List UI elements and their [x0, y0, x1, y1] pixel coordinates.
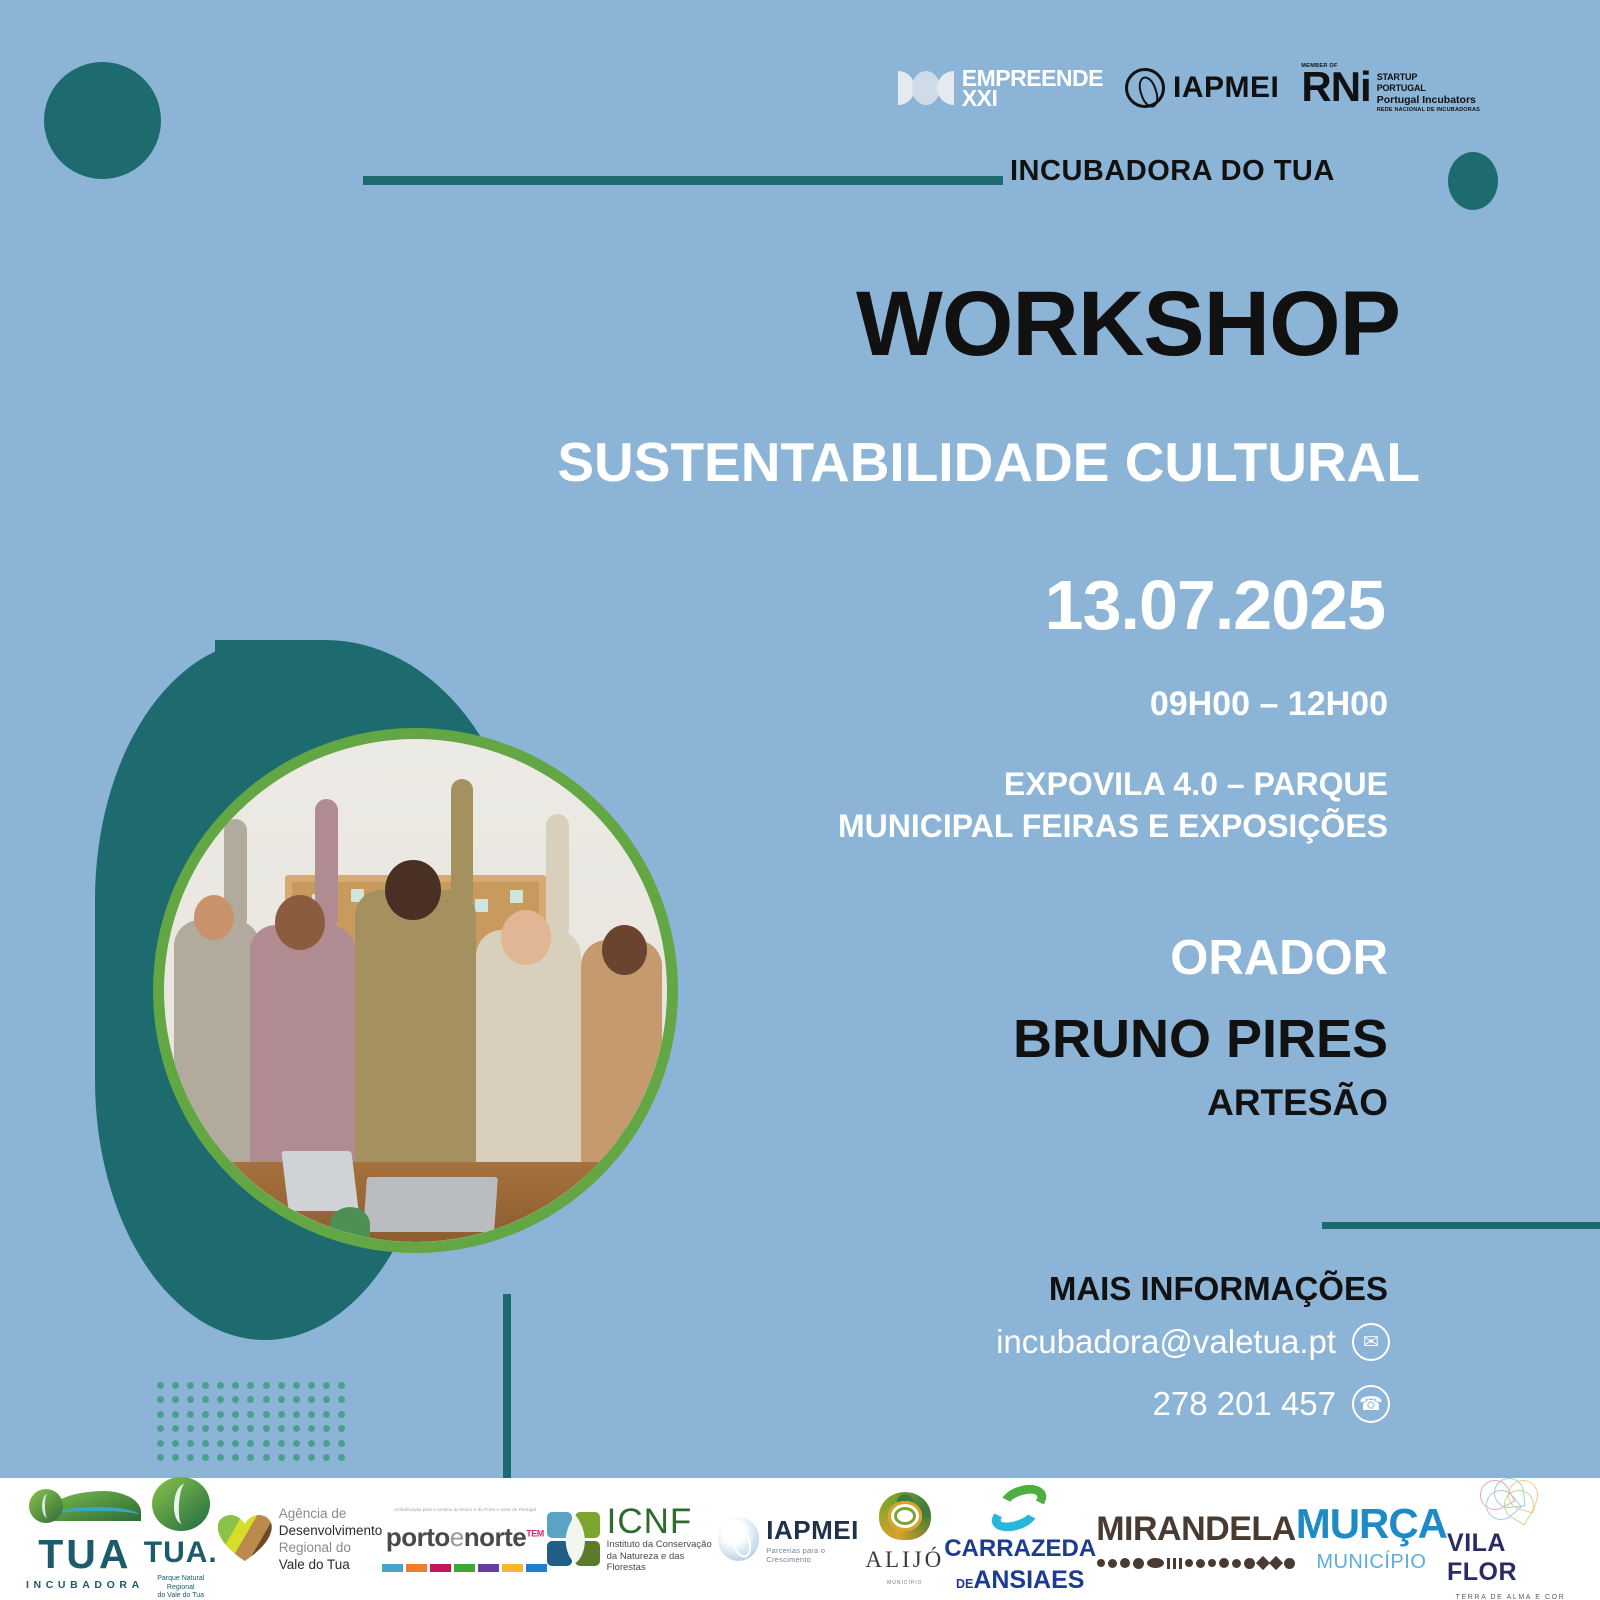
- adr-line3b: do: [336, 1540, 351, 1555]
- logo-vila-flor: VILA FLOR TERRA DE ALMA E COR: [1447, 1478, 1574, 1600]
- event-venue: EXPOVILA 4.0 – PARQUE MUNICIPAL FEIRAS E…: [838, 763, 1388, 847]
- decorative-circle-top-right: [1448, 152, 1498, 210]
- photo-laptop: [281, 1151, 359, 1211]
- icnf-sublabel: Instituto da Conservação da Natureza e d…: [607, 1539, 719, 1575]
- startup-line2: PORTUGAL: [1377, 83, 1480, 93]
- adr-line1b: de: [331, 1506, 346, 1521]
- logo-rni: MEMBER OF RNi STARTUP PORTUGAL Portugal …: [1301, 63, 1480, 113]
- carrazeda-c-icon: [991, 1486, 1049, 1530]
- vila-flor-wordmark: VILA FLOR: [1447, 1529, 1574, 1587]
- footer-logo-bar: TUA INCUBADORA TUA. Parque Natural Regio…: [0, 1478, 1600, 1600]
- logo-murca: MURÇA MUNICÍPIO: [1296, 1504, 1447, 1574]
- logo-alijo: ALIJÓ MUNICÍPIO: [865, 1492, 944, 1586]
- photo-person: [476, 930, 582, 1161]
- page-subtitle: SUSTENTABILIDADE CULTURAL: [557, 435, 1420, 490]
- carrazeda-line1: CARRAZEDA: [944, 1537, 1096, 1561]
- photo-person: [355, 890, 476, 1162]
- murca-sublabel: MUNICÍPIO: [1316, 1551, 1426, 1574]
- logo-iapmei-top: IAPMEI: [1125, 68, 1279, 108]
- tua-parque-leaf-icon: [152, 1477, 210, 1531]
- norte-word: norte: [464, 1522, 527, 1552]
- photo-person: [174, 920, 260, 1161]
- poster-canvas: EMPREENDE XXI IAPMEI MEMBER OF RNi START…: [0, 0, 1600, 1600]
- venue-line1: EXPOVILA 4.0 – PARQUE: [838, 763, 1388, 805]
- adr-line3a: Regional: [279, 1540, 332, 1555]
- iapmei-footer-sublabel: Parcerias para o Crescimento: [766, 1546, 865, 1564]
- iapmei-wordmark: IAPMEI: [1173, 71, 1279, 105]
- speaker-label: ORADOR: [1170, 930, 1388, 986]
- murca-wordmark: MURÇA: [1296, 1504, 1447, 1544]
- photo-person-head: [385, 860, 440, 920]
- event-time: 09H00 – 12H00: [1150, 685, 1388, 724]
- startup-portugal-icon: STARTUP PORTUGAL Portugal Incubators RED…: [1377, 72, 1480, 113]
- agencia-wordmark: Agência de Desenvolvimento Regional do V…: [279, 1505, 383, 1573]
- iapmei-footer-text: IAPMEI Parcerias para o Crescimento: [766, 1515, 865, 1564]
- event-photo: [153, 728, 678, 1253]
- decorative-header-rule: [363, 176, 1003, 185]
- more-info-heading: MAIS INFORMAÇÕES: [1049, 1270, 1388, 1308]
- tua-parque-sub-line2: do Vale do Tua: [144, 1592, 218, 1600]
- tua-parque-sub-line1: Parque Natural Regional: [144, 1575, 218, 1593]
- vila-flor-sublabel: TERRA DE ALMA E COR: [1456, 1594, 1566, 1600]
- logo-carrazeda-de-ansiaes: CARRAZEDA DEANSIAES: [944, 1486, 1096, 1593]
- icnf-wordmark: ICNF: [607, 1504, 719, 1539]
- porto-norte-wordmark: portoenorteTEM: [386, 1522, 544, 1553]
- speaker-role: ARTESÃO: [1207, 1082, 1388, 1124]
- iapmei-ring-icon-footer: [718, 1517, 759, 1561]
- carrazeda-de-label: DE: [956, 1577, 973, 1591]
- photo-raised-arm: [546, 814, 569, 940]
- adr-line2: Desenvolvimento: [279, 1522, 383, 1539]
- logo-mirandela: MIRANDELA: [1096, 1510, 1295, 1569]
- porto-norte-tiny-label: confederação para o turismo do Douro e d…: [394, 1507, 536, 1512]
- top-partner-logos: EMPREENDE XXI IAPMEI MEMBER OF RNi START…: [880, 56, 1480, 120]
- phone-icon: ☎: [1352, 1385, 1390, 1423]
- page-title: WORKSHOP: [856, 278, 1400, 370]
- rede-nacional-label: REDE NACIONAL DE INCUBADORAS: [1377, 107, 1480, 113]
- alijo-sublabel: MUNICÍPIO: [887, 1580, 922, 1586]
- logo-icnf: ICNF Instituto da Conservação da Naturez…: [547, 1504, 718, 1575]
- tua-incubadora-sublabel: INCUBADORA: [26, 1579, 144, 1591]
- contact-email-text[interactable]: incubadora@valetua.pt: [996, 1323, 1336, 1361]
- decorative-circle-top-left: [44, 62, 161, 179]
- photo-person: [250, 925, 356, 1161]
- photo-laptop: [363, 1177, 498, 1232]
- tua-incubadora-wordmark: TUA: [38, 1536, 131, 1573]
- contact-phone-row[interactable]: 278 201 457 ☎: [1152, 1385, 1390, 1423]
- tua-incubadora-icon: [29, 1487, 141, 1529]
- logo-iapmei-footer: IAPMEI Parcerias para o Crescimento: [718, 1515, 865, 1564]
- logo-tua-parque-natural: TUA. Parque Natural Regional do Vale do …: [144, 1477, 218, 1600]
- mirandela-dot-ornament: [1097, 1558, 1295, 1569]
- porto-norte-tm: TEM: [526, 1528, 544, 1538]
- iapmei-footer-wordmark: IAPMEI: [766, 1515, 865, 1546]
- rni-wordmark: RNi: [1301, 69, 1370, 105]
- decorative-dot-grid: [153, 1378, 349, 1465]
- empreende-xxi-wordmark: EMPREENDE XXI: [962, 68, 1103, 108]
- incubadora-do-tua-label: INCUBADORA DO TUA: [1010, 155, 1335, 188]
- decorative-vertical-rule: [503, 1294, 511, 1480]
- portugal-incubators-label: Portugal Incubators: [1377, 94, 1480, 106]
- adr-line1a: Agência: [279, 1506, 328, 1521]
- contact-phone-text[interactable]: 278 201 457: [1152, 1385, 1336, 1423]
- icnf-sub-line2: da Natureza e das Florestas: [607, 1551, 719, 1575]
- carrazeda-line2: DEANSIAES: [956, 1568, 1085, 1593]
- icnf-wordmark-block: ICNF Instituto da Conservação da Naturez…: [607, 1504, 719, 1575]
- photo-person-head: [275, 895, 325, 950]
- decorative-contact-rule: [1322, 1222, 1600, 1229]
- startup-line1: STARTUP: [1377, 72, 1480, 82]
- adr-line4: Vale do Tua: [279, 1556, 383, 1573]
- logo-agencia-desenvolvimento-regional: Agência de Desenvolvimento Regional do V…: [218, 1505, 383, 1573]
- logo-porto-e-norte: confederação para o turismo do Douro e d…: [382, 1507, 547, 1572]
- alijo-tree-icon: [879, 1492, 931, 1540]
- logo-tua-incubadora: TUA INCUBADORA: [26, 1487, 144, 1592]
- photo-person-head: [602, 925, 647, 975]
- tua-parque-wordmark: TUA.: [144, 1538, 218, 1568]
- photo-raised-arm: [451, 779, 474, 910]
- event-date: 13.07.2025: [1045, 570, 1385, 640]
- icnf-sub-line1: Instituto da Conservação: [607, 1539, 719, 1551]
- empreende-line2: XXI: [962, 88, 1103, 108]
- alijo-wordmark: ALIJÓ: [865, 1547, 944, 1573]
- logo-empreende-xxi: EMPREENDE XXI: [898, 68, 1103, 108]
- e-word: e: [450, 1522, 464, 1552]
- dna-empreende-icon: [898, 71, 954, 105]
- venue-line2: MUNICIPAL FEIRAS E EXPOSIÇÕES: [838, 805, 1388, 847]
- icnf-leaf-icon: [547, 1512, 599, 1566]
- porto-word: porto: [386, 1522, 450, 1552]
- mirandela-wordmark: MIRANDELA: [1096, 1510, 1295, 1549]
- iapmei-ring-icon: [1125, 68, 1165, 108]
- photo-small-plant: [330, 1207, 370, 1242]
- vila-flor-flower-icon: [1476, 1478, 1546, 1522]
- ansiaes-label: ANSIAES: [973, 1566, 1084, 1594]
- tua-parque-sublabel: Parque Natural Regional do Vale do Tua: [144, 1575, 218, 1600]
- envelope-icon: ✉: [1352, 1323, 1390, 1361]
- heart-landscape-icon: [218, 1515, 272, 1563]
- contact-email-row[interactable]: incubadora@valetua.pt ✉: [996, 1323, 1390, 1361]
- speaker-name: BRUNO PIRES: [1013, 1008, 1388, 1070]
- porto-norte-color-bars: [382, 1564, 547, 1572]
